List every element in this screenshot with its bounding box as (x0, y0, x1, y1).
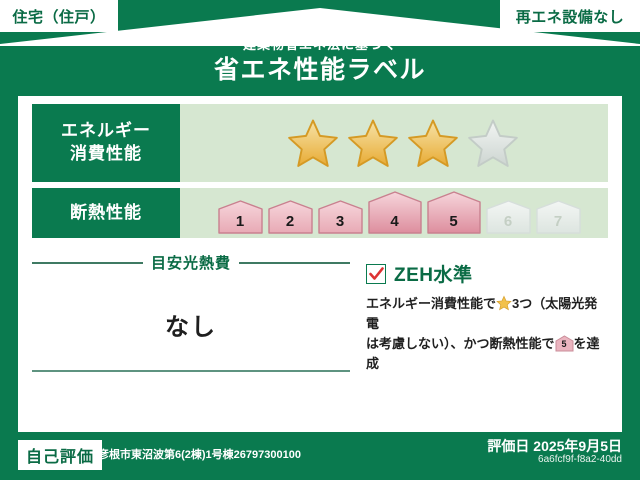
cost-heading: 目安光熱費 (32, 252, 350, 273)
row-insulation-key: 断熱性能 (32, 188, 180, 238)
row-energy-value (180, 104, 608, 182)
row-energy-key-line1: エネルギー (61, 120, 151, 143)
self-evaluation-badge: 自己評価 (18, 440, 102, 470)
row-insulation-key-label: 断熱性能 (70, 202, 142, 225)
check-icon (366, 264, 386, 284)
insulation-level-6: 6 (485, 200, 532, 235)
zeh-desc-part2: は考慮しない）、かつ断熱性能で (366, 336, 555, 351)
page-title: 建築物省エネ法に基づく 省エネ性能ラベル (0, 38, 640, 85)
insulation-level-3: 3 (317, 200, 364, 235)
zeh-description: エネルギー消費性能で3つ（太陽光発電 は考慮しない）、かつ断熱性能で5を達成 (366, 294, 608, 375)
row-energy-key: エネルギー 消費性能 (32, 104, 180, 182)
tag-renewable-equipment: 再エネ設備なし (500, 0, 640, 32)
cost-heading-rule-left (32, 262, 143, 264)
tag-housing-type: 住宅（住戸） (0, 0, 118, 32)
inline-house-number: 5 (555, 338, 574, 352)
label-uid: 6a6fcf9f-f8a2-40dd (538, 454, 622, 465)
zeh-title: ZEH水準 (394, 260, 473, 287)
star-empty (466, 117, 520, 169)
title-subtitle: 建築物省エネ法に基づく (0, 38, 640, 52)
cost-heading-rule-right (239, 262, 350, 264)
cost-bottom-rule (32, 370, 350, 372)
evaluation-date: 評価日 2025年9月5日 (487, 436, 622, 456)
row-energy-key-line2: 消費性能 (70, 143, 142, 166)
star-rating (286, 117, 520, 169)
insulation-level-number: 6 (485, 213, 532, 230)
zeh-heading: ZEH水準 (366, 260, 608, 287)
inline-star-icon (496, 295, 512, 311)
insulation-level-number: 7 (535, 213, 582, 230)
cost-heading-label: 目安光熱費 (151, 252, 231, 273)
inline-house-icon: 5 (555, 335, 574, 352)
row-insulation-performance: 断熱性能 1234567 (32, 188, 608, 238)
label-card: エネルギー 消費性能 断熱性能 1234567 目安光熱費 なし (18, 96, 622, 432)
lower-section: 目安光熱費 なし ZEH水準 エネルギー消費性能で3つ（太陽光発電 は考慮しない… (32, 246, 608, 421)
star-filled (346, 117, 400, 169)
cost-value: なし (32, 307, 350, 342)
insulation-level-number: 5 (426, 213, 482, 230)
energy-performance-label: 住宅（住戸） 再エネ設備なし 建築物省エネ法に基づく 省エネ性能ラベル エネルギ… (0, 0, 640, 480)
insulation-level-number: 1 (217, 213, 264, 230)
insulation-level-5: 5 (426, 191, 482, 235)
insulation-level-7: 7 (535, 200, 582, 235)
zeh-desc-part1: エネルギー消費性能で (366, 296, 496, 311)
star-filled (286, 117, 340, 169)
insulation-level-number: 2 (267, 213, 314, 230)
tag-renewable-equipment-label: 再エネ設備なし (516, 6, 625, 27)
star-filled (406, 117, 460, 169)
insulation-level-4: 4 (367, 191, 423, 235)
zeh-block: ZEH水準 エネルギー消費性能で3つ（太陽光発電 は考慮しない）、かつ断熱性能で… (366, 260, 608, 375)
footer: 自己評価 彦根市東沼波第6(2棟)1号棟26797300100 評価日 2025… (0, 432, 640, 480)
insulation-scale: 1234567 (217, 191, 582, 235)
insulation-level-number: 3 (317, 213, 364, 230)
title-main: 省エネ性能ラベル (0, 57, 640, 85)
row-insulation-value: 1234567 (180, 188, 608, 238)
tag-housing-type-label: 住宅（住戸） (12, 6, 105, 27)
insulation-level-1: 1 (217, 200, 264, 235)
insulation-level-2: 2 (267, 200, 314, 235)
insulation-level-number: 4 (367, 213, 423, 230)
property-address: 彦根市東沼波第6(2棟)1号棟26797300100 (98, 446, 301, 462)
row-energy-performance: エネルギー 消費性能 (32, 104, 608, 182)
